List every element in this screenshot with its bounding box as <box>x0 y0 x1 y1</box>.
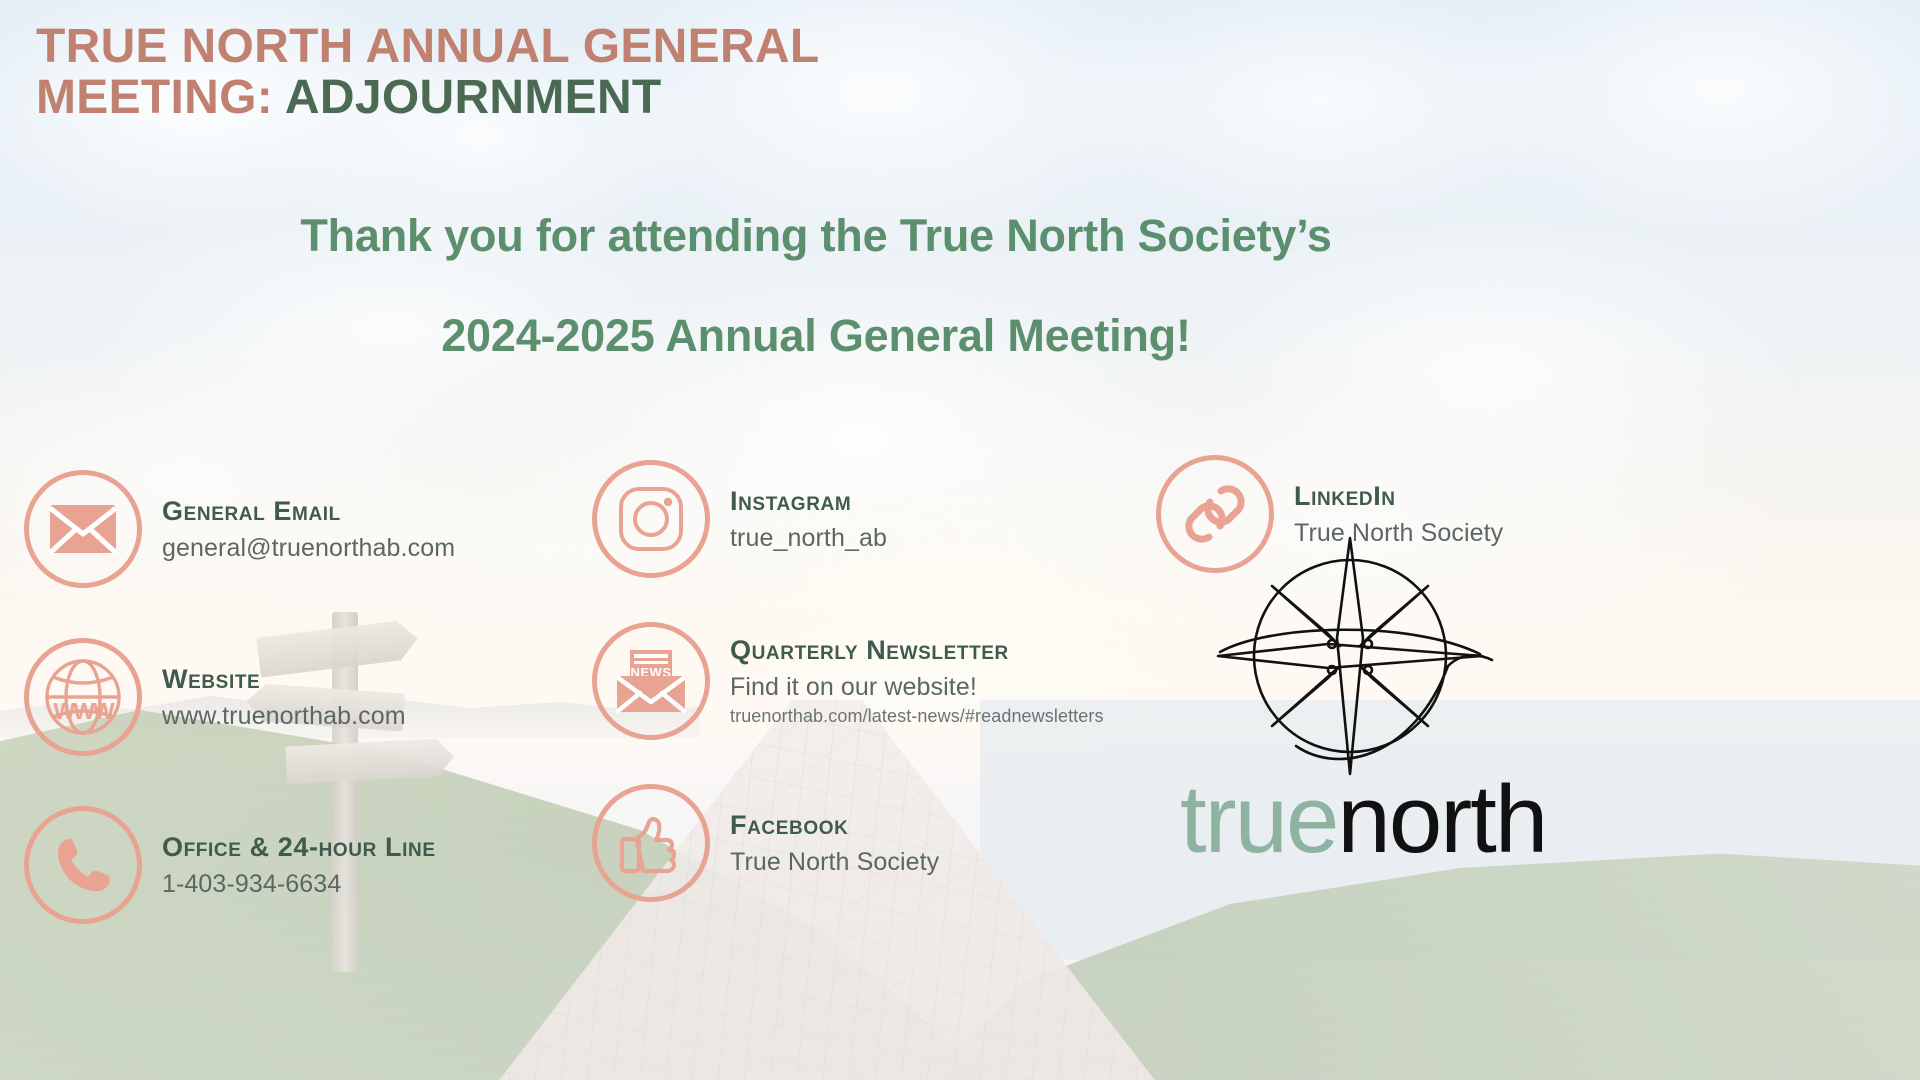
contact-text: Instagram true_north_ab <box>730 486 887 553</box>
envelope-icon <box>24 470 142 588</box>
contact-item-instagram[interactable]: Instagram true_north_ab <box>592 460 1212 578</box>
thumbs-up-icon <box>592 784 710 902</box>
contact-column-1: General Email general@truenorthab.com <box>24 470 584 924</box>
svg-text:WWW: WWW <box>53 698 114 724</box>
contact-detail-small: truenorthab.com/latest-news/#readnewslet… <box>730 706 1104 727</box>
logo-wordmark: truenorth <box>1180 772 1546 868</box>
slide-canvas: TRUE NORTH ANNUAL GENERAL MEETING: ADJOU… <box>0 0 1920 1080</box>
compass-rose-icon <box>1200 520 1500 792</box>
contact-detail: 1-403-934-6634 <box>162 870 436 899</box>
contact-text: Facebook True North Society <box>730 810 939 877</box>
contact-text: General Email general@truenorthab.com <box>162 496 455 563</box>
contact-heading: Instagram <box>730 486 887 517</box>
contact-detail: www.truenorthab.com <box>162 702 406 731</box>
contact-heading: Office & 24-hour Line <box>162 832 436 863</box>
contact-detail: general@truenorthab.com <box>162 534 455 563</box>
contact-detail: True North Society <box>730 848 939 877</box>
contact-heading: LinkedIn <box>1294 481 1503 512</box>
title-line-2-accent: ADJOURNMENT <box>285 71 662 124</box>
contact-text: Quarterly Newsletter Find it on our webs… <box>730 635 1104 727</box>
contact-heading: Facebook <box>730 810 939 841</box>
contact-detail: Find it on our website! <box>730 673 1104 702</box>
slide-content: TRUE NORTH ANNUAL GENERAL MEETING: ADJOU… <box>0 0 1920 1080</box>
truenorth-logo: truenorth <box>1200 520 1900 920</box>
logo-word-north: north <box>1337 766 1546 873</box>
title-line-2: MEETING: ADJOURNMENT <box>36 73 1236 124</box>
globe-www-icon: WWW <box>24 638 142 756</box>
title-line-1: TRUE NORTH ANNUAL GENERAL <box>36 22 1236 73</box>
phone-icon <box>24 806 142 924</box>
title-line-2-prefix: MEETING: <box>36 71 273 124</box>
instagram-icon <box>592 460 710 578</box>
lead-line-2: 2024-2025 Annual General Meeting! <box>0 310 1632 362</box>
contact-item-website[interactable]: WWW Website www.truenorthab.com <box>24 638 584 756</box>
contact-detail: true_north_ab <box>730 524 887 553</box>
contact-text: Website www.truenorthab.com <box>162 664 406 731</box>
lead-line-1: Thank you for attending the True North S… <box>0 210 1632 262</box>
news-envelope-icon: NEWS <box>592 622 710 740</box>
contact-heading: Quarterly Newsletter <box>730 635 1104 666</box>
page-title: TRUE NORTH ANNUAL GENERAL MEETING: ADJOU… <box>36 22 1236 124</box>
contact-column-2: Instagram true_north_ab NEWS <box>592 460 1212 902</box>
contact-item-general-email[interactable]: General Email general@truenorthab.com <box>24 470 584 588</box>
contact-heading: General Email <box>162 496 455 527</box>
contact-text: Office & 24-hour Line 1-403-934-6634 <box>162 832 436 899</box>
contact-item-newsletter[interactable]: NEWS Quarterly Newsletter Find it on our… <box>592 622 1212 740</box>
contact-item-office-line[interactable]: Office & 24-hour Line 1-403-934-6634 <box>24 806 584 924</box>
logo-word-true: true <box>1180 766 1337 873</box>
contact-heading: Website <box>162 664 406 695</box>
contact-item-facebook[interactable]: Facebook True North Society <box>592 784 1212 902</box>
